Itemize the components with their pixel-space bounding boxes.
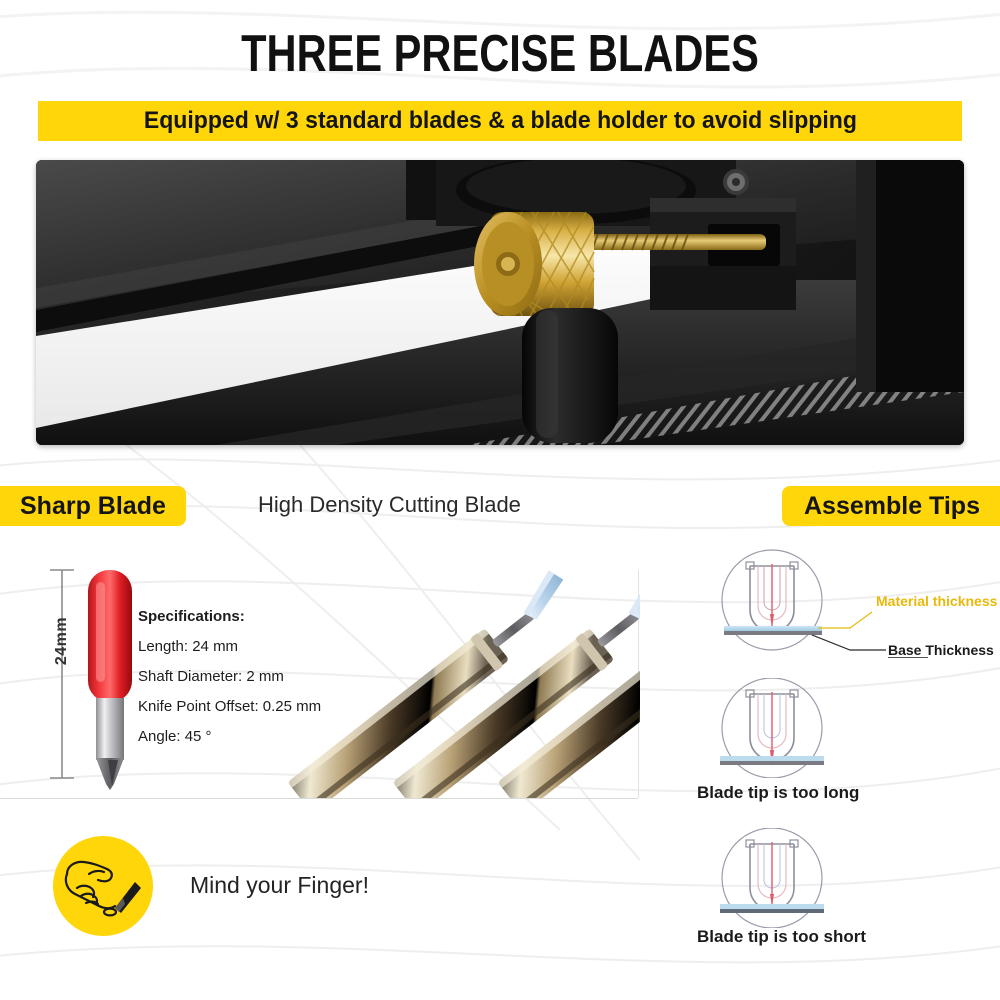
specifications-title: Specifications:	[138, 608, 321, 625]
panel-horizontal-divider	[0, 798, 638, 799]
sharp-blade-subheading: High Density Cutting Blade	[258, 492, 521, 518]
blade-length-dimension-label: 24mm	[53, 617, 71, 665]
base-thickness-label: Base Thickness	[888, 642, 994, 658]
section-tag-assemble-tips: Assemble Tips	[782, 486, 1000, 526]
mind-your-finger-text: Mind your Finger!	[190, 872, 369, 899]
diagram-blade-too-long	[700, 678, 1000, 778]
pointing-hand-icon	[66, 862, 115, 908]
sharp-blade-label: Sharp Blade	[20, 492, 166, 521]
subtitle-text: Equipped w/ 3 standard blades & a blade …	[143, 107, 856, 135]
material-thickness-label: Material thickness	[876, 593, 998, 609]
page-title: THREE PRECISE BLADES	[100, 24, 900, 84]
infographic-page: THREE PRECISE BLADES Equipped w/ 3 stand…	[0, 0, 1000, 1000]
assemble-tips-label: Assemble Tips	[804, 492, 980, 521]
mind-your-finger-badge	[53, 836, 153, 936]
hero-product-photo	[36, 160, 964, 445]
specifications-list: Specifications: Length: 24 mm Shaft Diam…	[138, 608, 321, 758]
spec-knife-point-offset: Knife Point Offset: 0.25 mm	[138, 698, 321, 715]
diagram-blade-too-short	[700, 828, 1000, 928]
caption-blade-too-short: Blade tip is too short	[697, 927, 866, 947]
spec-shaft-diameter: Shaft Diameter: 2 mm	[138, 668, 321, 685]
spec-length: Length: 24 mm	[138, 638, 321, 655]
subtitle-banner: Equipped w/ 3 standard blades & a blade …	[38, 101, 962, 141]
section-tag-sharp-blade: Sharp Blade	[0, 486, 186, 526]
diagram-correct-blade-depth: Material thickness Base Thickness	[700, 548, 1000, 658]
spec-angle: Angle: 45 °	[138, 728, 321, 745]
caption-blade-too-long: Blade tip is too long	[697, 783, 859, 803]
blade-icon	[115, 882, 141, 913]
